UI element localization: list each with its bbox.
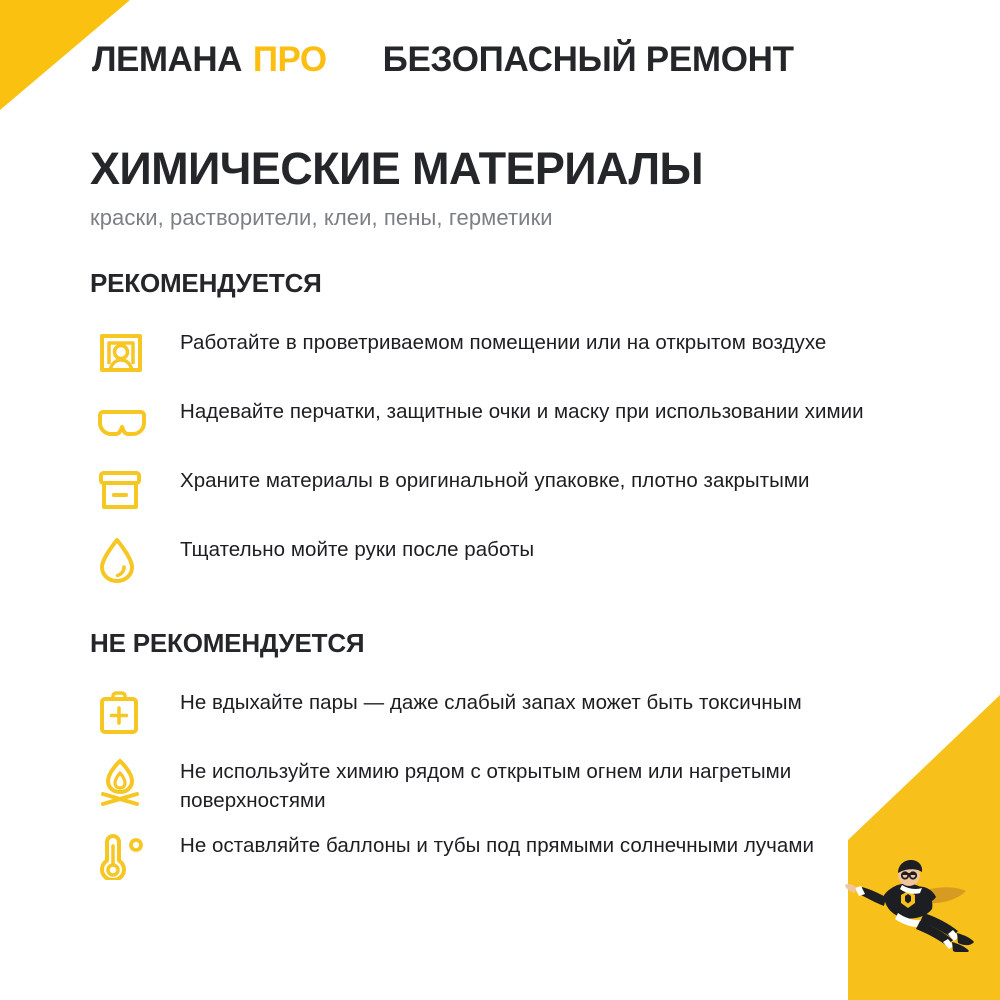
tip-item: Не используйте химию рядом с открытым ог…: [90, 754, 890, 815]
tip-text: Работайте в проветриваемом помещении или…: [180, 325, 890, 357]
brand-logo-main: ЛЕМАНА: [92, 40, 242, 80]
tip-item: Тщательно мойте руки после работы: [90, 532, 890, 588]
header: ЛЕМАНА ПРО БЕЗОПАСНЫЙ РЕМОНТ: [92, 40, 794, 80]
storage-box-icon: [90, 463, 180, 519]
brand-logo-accent: ПРО: [253, 40, 327, 80]
safety-goggles-icon: [90, 394, 180, 450]
tip-text: Тщательно мойте руки после работы: [180, 532, 890, 564]
ventilated-room-icon: [90, 325, 180, 381]
poster-canvas: ЛЕМАНА ПРО БЕЗОПАСНЫЙ РЕМОНТ ХИМИЧЕСКИЕ …: [0, 0, 1000, 1000]
tip-text: Не используйте химию рядом с открытым ог…: [180, 754, 890, 815]
tip-list-unrecommended: Не вдыхайте пары — даже слабый запах мож…: [90, 685, 890, 884]
page-title: ХИМИЧЕСКИЕ МАТЕРИАЛЫ: [90, 145, 703, 194]
first-aid-kit-icon: [90, 685, 180, 741]
tip-item: Не оставляйте баллоны и тубы под прямыми…: [90, 828, 890, 884]
tip-item: Работайте в проветриваемом помещении или…: [90, 325, 890, 381]
section-recommended: РЕКОМЕНДУЕТСЯ Работайте в проветриваемом…: [90, 268, 890, 601]
tip-list-recommended: Работайте в проветриваемом помещении или…: [90, 325, 890, 588]
water-drop-icon: [90, 532, 180, 588]
tip-text: Храните материалы в оригинальной упаковк…: [180, 463, 890, 495]
title-block: ХИМИЧЕСКИЕ МАТЕРИАЛЫ краски, растворител…: [90, 145, 703, 231]
section-heading-recommended: РЕКОМЕНДУЕТСЯ: [90, 268, 890, 299]
tip-item: Храните материалы в оригинальной упаковк…: [90, 463, 890, 519]
page-subtitle: краски, растворители, клеи, пены, гермет…: [90, 205, 703, 231]
flying-superhero-mascot: [840, 847, 980, 952]
tip-text: Не оставляйте баллоны и тубы под прямыми…: [180, 828, 890, 860]
thermometer-sun-icon: [90, 828, 180, 884]
tip-item: Надевайте перчатки, защитные очки и маск…: [90, 394, 890, 450]
tip-text: Надевайте перчатки, защитные очки и маск…: [180, 394, 890, 426]
campaign-title: БЕЗОПАСНЫЙ РЕМОНТ: [383, 40, 794, 80]
section-unrecommended: НЕ РЕКОМЕНДУЕТСЯ Не вдыхайте пары — даже…: [90, 628, 890, 897]
tip-text: Не вдыхайте пары — даже слабый запах мож…: [180, 685, 890, 717]
tip-item: Не вдыхайте пары — даже слабый запах мож…: [90, 685, 890, 741]
campfire-icon: [90, 754, 180, 810]
brand-logo: ЛЕМАНА ПРО: [92, 40, 327, 80]
section-heading-unrecommended: НЕ РЕКОМЕНДУЕТСЯ: [90, 628, 890, 659]
